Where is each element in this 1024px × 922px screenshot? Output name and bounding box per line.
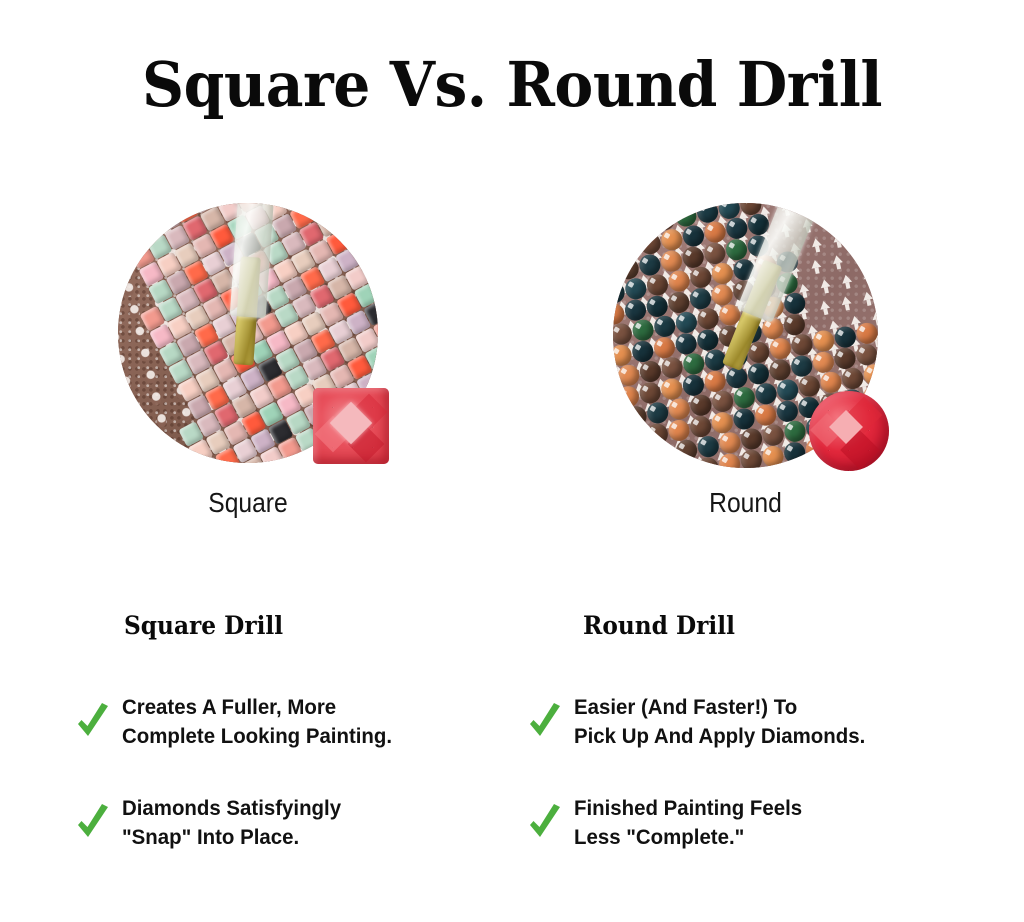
check-icon	[528, 803, 562, 843]
check-icon	[76, 803, 110, 843]
check-icon	[76, 702, 110, 742]
column-heading-round-drill: Round Drill	[583, 611, 735, 640]
round-gem-icon	[809, 391, 889, 471]
list-item-label: Creates A Fuller, More Complete Looking …	[122, 693, 392, 751]
check-icon	[528, 702, 562, 742]
list-item: Easier (And Faster!) To Pick Up And Appl…	[528, 693, 881, 751]
pen-barrel	[230, 203, 274, 318]
list-item-label: Finished Painting Feels Less "Complete."	[574, 794, 802, 852]
list-item: Diamonds Satisfyingly "Snap" Into Place.	[76, 794, 353, 852]
photo-caption-square: Square	[134, 487, 363, 519]
list-item: Finished Painting Feels Less "Complete."	[528, 794, 814, 852]
list-item-label: Easier (And Faster!) To Pick Up And Appl…	[574, 693, 865, 751]
page-title: Square Vs. Round Drill	[31, 48, 994, 121]
photo-caption-round: Round	[629, 487, 862, 519]
square-gem-icon	[313, 388, 389, 464]
list-item-label: Diamonds Satisfyingly "Snap" Into Place.	[122, 794, 341, 852]
column-heading-square-drill: Square Drill	[124, 611, 283, 640]
list-item: Creates A Fuller, More Complete Looking …	[76, 693, 406, 751]
